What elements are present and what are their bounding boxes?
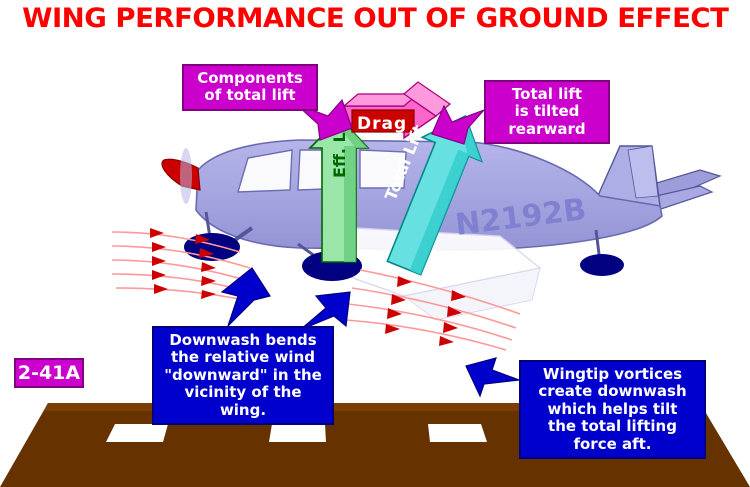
figure-id-badge: 2-41A bbox=[14, 358, 84, 388]
callout-components-line1: Components bbox=[190, 70, 310, 87]
figure-title-bar: Wing Performance Out of Ground Effect bbox=[0, 0, 750, 36]
callout-vortices-line5: force aft. bbox=[527, 436, 698, 453]
callout-total-lift-line1: Total lift bbox=[492, 86, 602, 103]
callout-components-of-total-lift: Components of total lift bbox=[182, 64, 318, 111]
callout-vortices-line1: Wingtip vortices bbox=[527, 366, 698, 383]
callout-downwash-line3: "downward" in the bbox=[160, 367, 326, 384]
callout-vortices-line2: create downwash bbox=[527, 383, 698, 400]
callout-total-lift-tilted: Total lift is tilted rearward bbox=[484, 80, 610, 144]
callout-total-lift-line2: is tilted bbox=[492, 103, 602, 120]
callout-downwash-line1: Downwash bends bbox=[160, 332, 326, 349]
callout-downwash-line2: the relative wind bbox=[160, 349, 326, 366]
callout-vortices-line3: which helps tilt bbox=[527, 401, 698, 418]
figure-canvas: Wing Performance Out of Ground Effect bbox=[0, 0, 750, 487]
callout-vortices-line4: the total lifting bbox=[527, 418, 698, 435]
callout-components-line2: of total lift bbox=[190, 87, 310, 104]
callout-downwash: Downwash bends the relative wind "downwa… bbox=[152, 326, 334, 425]
callout-total-lift-line3: rearward bbox=[492, 121, 602, 138]
callout-wingtip-vortices: Wingtip vortices create downwash which h… bbox=[519, 360, 706, 459]
page-title: Wing Performance Out of Ground Effect bbox=[22, 3, 728, 34]
callout-downwash-line4: vicinity of the wing. bbox=[160, 384, 326, 419]
